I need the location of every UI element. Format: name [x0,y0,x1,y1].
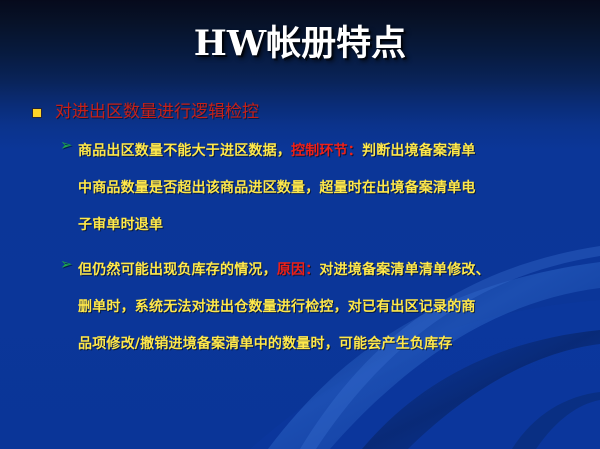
bullet-level1: 对进出区数量进行逻辑检控 [0,101,600,125]
text-segment: 中商品数量是否超出该商品进区数量，超量时在出境备案清单电 [78,180,476,196]
bullet-level1-label: 对进出区数量进行逻辑检控 [55,102,259,122]
text-line: 子审单时退单 [78,207,600,244]
presentation-slide: HW帐册特点 对进出区数量进行逻辑检控 ➢ 商品出区数量不能大于进区数据，控制环… [0,0,600,449]
text-segment: 品项修改/撤销进境备案清单中的数量时，可能会产生负库存 [78,336,453,352]
text-segment: 但仍然可能出现负库存的情况， [78,262,277,278]
text-segment: 商品出区数量不能大于进区数据， [78,143,291,159]
page-title: HW帐册特点 [194,22,406,66]
text-segment: 子审单时退单 [78,217,163,233]
square-bullet-icon [33,109,41,117]
text-line: 删单时，系统无法对进出仓数量进行检控，对已有出区记录的商 [78,289,600,326]
text-line: 但仍然可能出现负库存的情况，原因：对进境备案清单清单修改、 [78,252,600,289]
arrow-bullet-icon: ➢ [60,135,73,155]
bullet-level2-1-paragraph: 商品出区数量不能大于进区数据，控制环节：判断出境备案清单 中商品数量是否超出该商… [78,133,600,244]
text-line: 商品出区数量不能大于进区数据，控制环节：判断出境备案清单 [78,133,600,170]
text-segment: 删单时，系统无法对进出仓数量进行检控，对已有出区记录的商 [78,299,476,315]
text-line: 品项修改/撤销进境备案清单中的数量时，可能会产生负库存 [78,326,600,363]
bullet-level2-2: ➢ 但仍然可能出现负库存的情况，原因：对进境备案清单清单修改、 删单时，系统无法… [0,252,600,363]
text-line: 中商品数量是否超出该商品进区数量，超量时在出境备案清单电 [78,170,600,207]
arrow-bullet-icon: ➢ [60,254,73,274]
slide-content: 对进出区数量进行逻辑检控 ➢ 商品出区数量不能大于进区数据，控制环节：判断出境备… [0,101,600,365]
highlight-segment: 控制环节： [291,143,362,159]
bullet-level2-2-paragraph: 但仍然可能出现负库存的情况，原因：对进境备案清单清单修改、 删单时，系统无法对进… [78,252,600,363]
text-segment: 判断出境备案清单 [362,143,476,159]
highlight-segment: 原因： [277,262,320,278]
slide-title-container: HW帐册特点 [0,22,600,66]
text-segment: 对进境备案清单清单修改、 [319,262,489,278]
bullet-level2-1: ➢ 商品出区数量不能大于进区数据，控制环节：判断出境备案清单 中商品数量是否超出… [0,133,600,244]
